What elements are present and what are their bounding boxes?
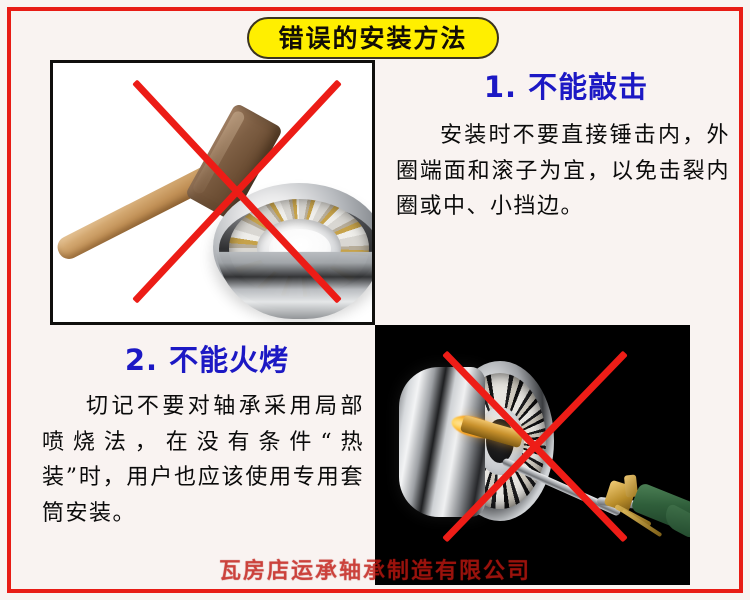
section-no-hammering: 1. 不能敲击 安装时不要直接锤击内，外圈端面和滚子为宜，以免击裂内圈或中、小挡… [396, 72, 736, 225]
title-banner: 错误的安装方法 [247, 17, 499, 59]
section-2-heading: 2. 不能火烤 [42, 345, 372, 377]
page-title: 错误的安装方法 [278, 26, 467, 51]
hammer-and-bearing-photo [50, 60, 375, 325]
poster-page: 错误的安装方法 1. 不能敲击 安装时不要直接锤击内，外圈端面和滚子为宜，以免击… [0, 0, 750, 600]
section-1-body: 安装时不要直接锤击内，外圈端面和滚子为宜，以免击裂内圈或中、小挡边。 [396, 118, 730, 225]
section-1-heading: 1. 不能敲击 [396, 72, 736, 104]
section-no-flame-heating: 2. 不能火烤 切记不要对轴承采用局部喷烧法，在没有条件“热装”时，用户也应该使… [42, 345, 372, 531]
torch-heating-bearing-photo [375, 325, 690, 585]
red-cross-overlay-icon [53, 63, 372, 322]
section-2-body: 切记不要对轴承采用局部喷烧法，在没有条件“热装”时，用户也应该使用专用套筒安装。 [42, 389, 364, 532]
red-cross-overlay-icon-2 [375, 325, 690, 585]
